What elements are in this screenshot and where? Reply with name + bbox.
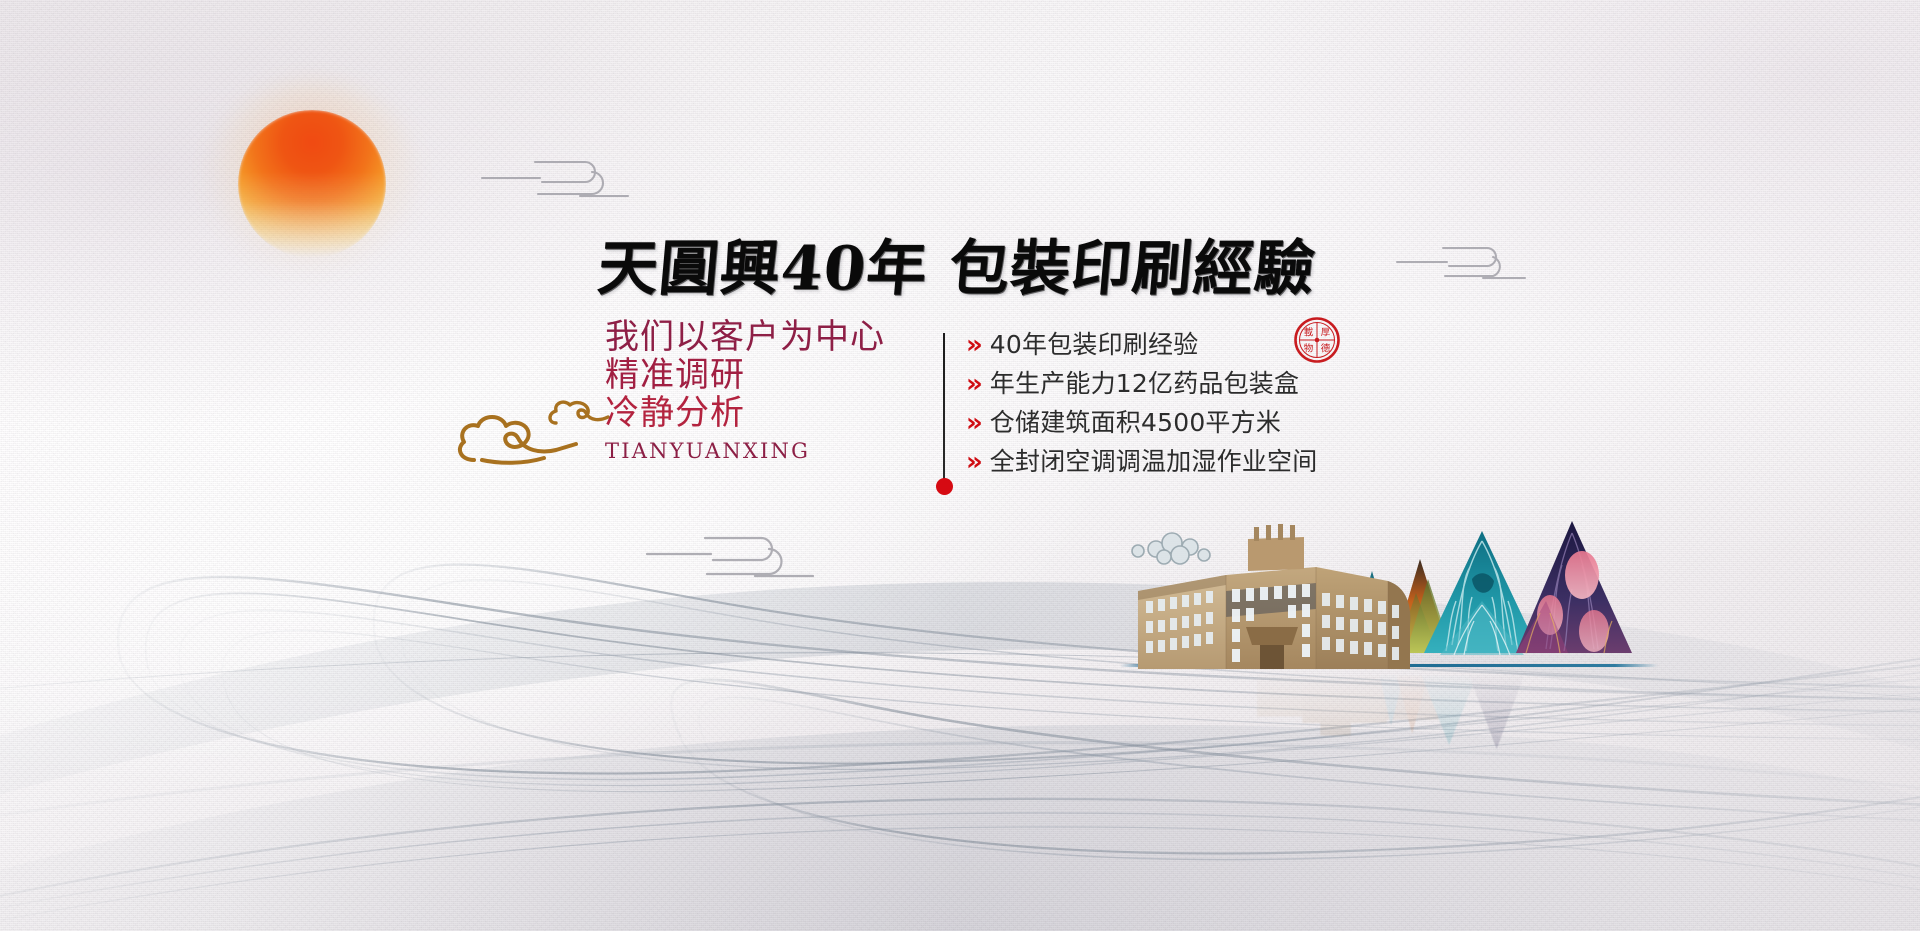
cloud-mid-left-icon: [645, 528, 815, 590]
cloud-gold-small-icon: [546, 397, 612, 429]
cloud-top-left-icon: [480, 150, 630, 210]
building-and-mountains-illustration: [1120, 505, 1660, 685]
slogan-block: 我们以客户为中心 精准调研 冷静分析 TIANYUANXING: [605, 318, 945, 463]
chevron-right-icon: »: [966, 365, 983, 404]
list-item: » 年生产能力12亿药品包装盒: [966, 364, 1486, 403]
feature-text: 仓储建筑面积4500平方米: [990, 403, 1281, 442]
seal-stamp-icon: 載 厚 物 德: [1293, 316, 1341, 364]
chevron-right-icon: »: [966, 326, 983, 365]
slogan-line-2: 精准调研: [605, 356, 945, 394]
promo-banner: 天圓興40年 包裝印刷經驗 我们以客户为中心 精准调研 冷静分析 TIANYUA…: [0, 0, 1920, 931]
seal-char-tl: 載: [1304, 327, 1314, 339]
vertical-divider: [943, 333, 945, 481]
main-title-text: 天圓興40年 包裝印刷經驗: [595, 232, 1341, 306]
feature-list: » 40年包装印刷经验 » 年生产能力12亿药品包装盒 » 仓储建筑面积4500…: [966, 325, 1486, 481]
main-title: 天圓興40年 包裝印刷經驗: [598, 232, 1338, 306]
slogan-line-1: 我们以客户为中心: [605, 318, 945, 356]
cloud-top-right-icon: [1395, 238, 1527, 290]
sun-icon: [238, 110, 386, 258]
list-item: » 仓储建筑面积4500平方米: [966, 403, 1486, 442]
list-item: » 全封闭空调调温加湿作业空间: [966, 442, 1486, 481]
cloud-small-icon: [1132, 533, 1210, 564]
chevron-right-icon: »: [966, 443, 983, 482]
feature-text: 全封闭空调调温加湿作业空间: [990, 442, 1318, 481]
list-item: » 40年包装印刷经验: [966, 325, 1486, 364]
slogan-pinyin: TIANYUANXING: [605, 439, 945, 463]
seal-char-tr: 厚: [1321, 328, 1331, 339]
divider-dot-icon: [936, 478, 953, 495]
seal-char-br: 德: [1321, 342, 1331, 354]
feature-text: 年生产能力12亿药品包装盒: [990, 364, 1299, 403]
chevron-right-icon: »: [966, 404, 983, 443]
seal-char-bl: 物: [1304, 342, 1314, 354]
feature-text: 40年包装印刷经验: [990, 325, 1199, 364]
slogan-line-3: 冷静分析: [605, 394, 945, 432]
